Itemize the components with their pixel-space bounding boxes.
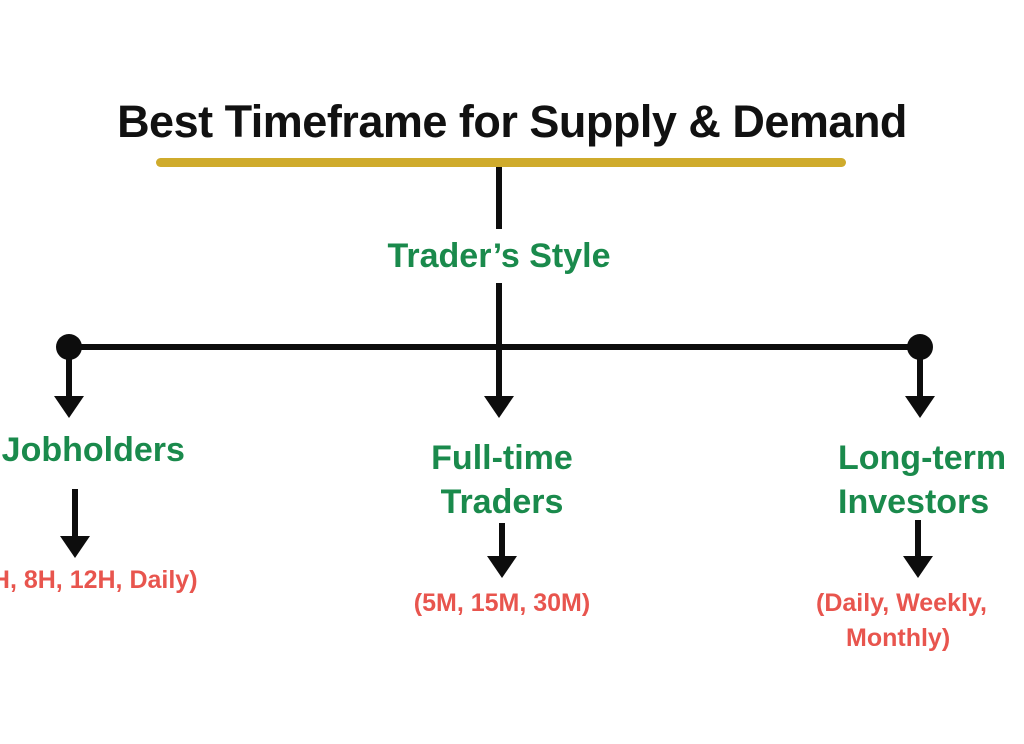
- arrowhead-jobholders-to-timeframes: [60, 536, 90, 558]
- timeframe-label-long-term-investors: (Daily, Weekly, Monthly): [816, 586, 1024, 656]
- title-underline-rule: [156, 158, 846, 167]
- timeframe-label-long-term-investors-line1: (Daily, Weekly,: [816, 586, 1024, 621]
- arrowhead-long-term-investors-to-timeframes: [903, 556, 933, 578]
- arrowhead-bus-to-full-time-traders: [484, 396, 514, 418]
- branch-label-full-time-traders-line2: Traders: [352, 480, 652, 524]
- connector-long-term-investors-to-timeframes: [915, 520, 921, 558]
- connector-full-time-traders-to-timeframes: [499, 523, 505, 559]
- root-node-label: Trader’s Style: [349, 234, 649, 278]
- timeframe-label-long-term-investors-line2: Monthly): [816, 621, 1024, 656]
- diagram-canvas: Best Timeframe for Supply & Demand Trade…: [0, 0, 1024, 744]
- branch-label-long-term-investors-line1: Long-term: [838, 436, 1024, 480]
- connector-bus-to-full-time-traders: [496, 347, 502, 397]
- connector-title-to-root: [496, 167, 502, 229]
- connector-jobholders-to-timeframes: [72, 489, 78, 537]
- connector-bus-to-jobholders: [66, 347, 72, 397]
- branch-label-jobholders: -5 Jobholders: [0, 428, 302, 472]
- timeframe-label-full-time-traders: (5M, 15M, 30M): [377, 586, 627, 621]
- arrowhead-bus-to-long-term-investors: [905, 396, 935, 418]
- timeframe-label-jobholders: 4H, 8H, 12H, Daily): [0, 563, 308, 598]
- connector-bus-to-long-term-investors: [917, 347, 923, 397]
- branch-label-long-term-investors: Long-term Investors: [838, 436, 1024, 524]
- branch-label-full-time-traders-line1: Full-time: [352, 436, 652, 480]
- arrowhead-bus-to-jobholders: [54, 396, 84, 418]
- connector-horizontal-bus: [69, 344, 921, 350]
- arrowhead-full-time-traders-to-timeframes: [487, 556, 517, 578]
- connector-root-to-bus: [496, 283, 502, 350]
- branch-label-long-term-investors-line2: Investors: [838, 480, 1024, 524]
- page-title: Best Timeframe for Supply & Demand: [0, 96, 1024, 148]
- branch-label-full-time-traders: Full-time Traders: [352, 436, 652, 524]
